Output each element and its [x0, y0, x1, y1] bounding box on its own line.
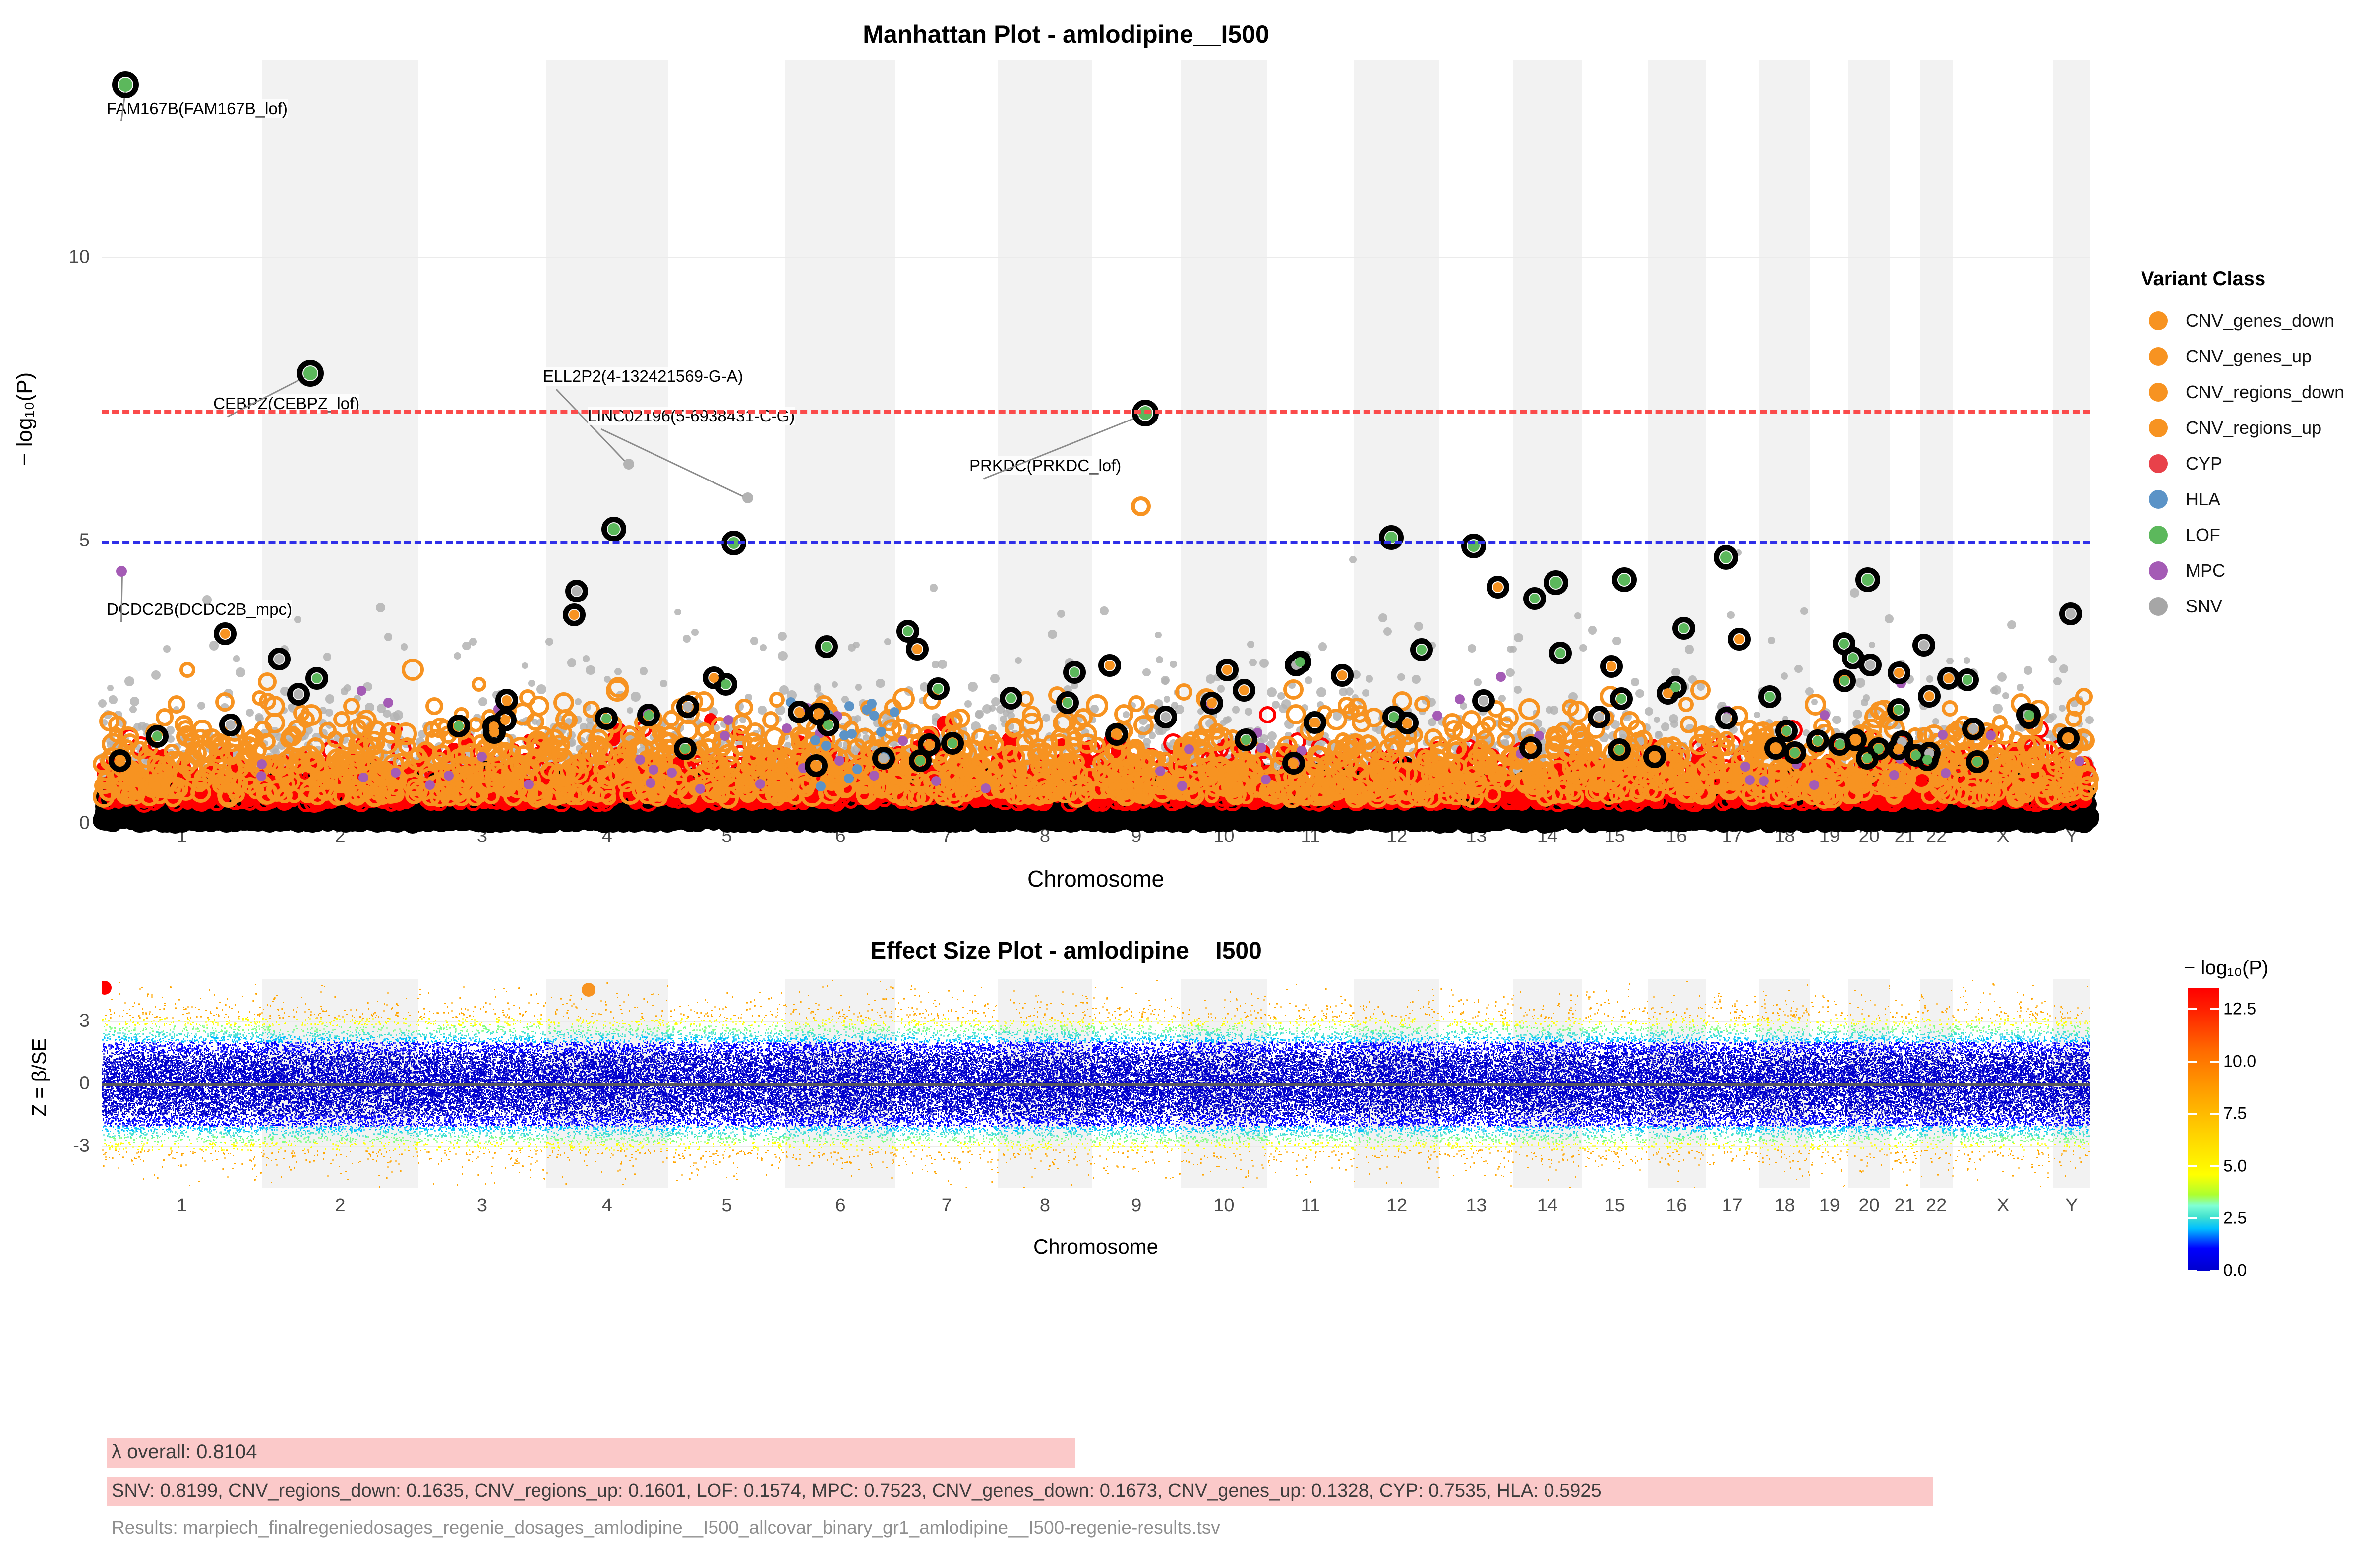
- data-point: [1316, 687, 1326, 697]
- data-point: [631, 692, 640, 701]
- data-point: [401, 643, 408, 651]
- data-point: [1057, 610, 1065, 618]
- manhattan-y-tick: 10: [15, 247, 90, 268]
- data-point: [876, 679, 885, 688]
- data-point: [109, 695, 118, 704]
- data-point: [1474, 678, 1482, 686]
- data-point: [246, 709, 254, 717]
- data-point: [1305, 676, 1313, 685]
- data-point: [1685, 645, 1694, 654]
- data-point: [1267, 731, 1277, 741]
- data-point: [1579, 644, 1587, 652]
- data-point: [575, 698, 582, 705]
- chromosome-band: [1759, 60, 1811, 823]
- data-point: [129, 706, 137, 713]
- manhattan-panel: Manhattan Plot - amlodipine__I500 − log₁…: [0, 0, 2132, 893]
- data-point: [975, 711, 983, 719]
- data-point: [1366, 675, 1373, 683]
- data-point: [1217, 685, 1225, 693]
- data-point: [1378, 613, 1387, 622]
- data-point: [528, 680, 535, 687]
- data-point: [750, 637, 759, 645]
- data-point: [98, 699, 107, 708]
- data-point: [855, 684, 862, 690]
- data-point: [1170, 661, 1177, 668]
- data-point: [930, 584, 938, 592]
- data-point: [124, 676, 134, 686]
- data-point: [233, 655, 240, 662]
- data-point: [990, 674, 1000, 683]
- data-point: [1155, 632, 1161, 638]
- data-point: [462, 642, 471, 651]
- chromosome-band: [1648, 60, 1706, 823]
- data-point: [1645, 707, 1653, 716]
- chromosome-band: [1181, 60, 1267, 823]
- data-point: [760, 644, 767, 651]
- data-point: [567, 658, 576, 667]
- data-point: [1412, 675, 1421, 684]
- data-point: [1514, 633, 1523, 642]
- data-point: [478, 697, 488, 707]
- data-point: [130, 697, 139, 706]
- data-point: [1468, 644, 1476, 653]
- data-point: [1345, 687, 1354, 696]
- data-point: [1414, 622, 1423, 631]
- data-point: [1161, 676, 1170, 685]
- data-point: [1514, 686, 1522, 694]
- manhattan-gridline: [102, 257, 2090, 258]
- data-point: [1156, 656, 1163, 663]
- data-point: [674, 609, 681, 616]
- data-point: [383, 710, 391, 718]
- data-point: [323, 653, 331, 661]
- manhattan-plot-area: [102, 60, 2090, 823]
- data-point: [1550, 706, 1558, 714]
- data-point: [683, 635, 691, 643]
- data-point: [640, 667, 648, 675]
- manhattan-y-axis: − log₁₀(P) 0510: [0, 60, 102, 823]
- data-point: [536, 684, 546, 694]
- data-point: [197, 702, 205, 710]
- data-point: [1635, 689, 1644, 698]
- data-point: [1397, 673, 1405, 681]
- data-point: [1349, 556, 1357, 563]
- data-point: [236, 667, 245, 677]
- manhattan-title: Manhattan Plot - amlodipine__I500: [0, 20, 2132, 49]
- data-point: [393, 710, 403, 720]
- data-point: [1631, 678, 1639, 686]
- data-point: [1612, 637, 1621, 645]
- data-point: [964, 700, 972, 708]
- data-point: [1259, 659, 1269, 668]
- data-point: [1318, 642, 1327, 651]
- manhattan-y-tick: 0: [15, 813, 90, 834]
- data-point: [1048, 630, 1057, 639]
- data-point: [691, 629, 698, 636]
- data-point: [1164, 696, 1171, 703]
- manhattan-y-tick: 5: [15, 530, 90, 551]
- data-point: [107, 685, 114, 691]
- data-point: [325, 694, 335, 704]
- data-point: [814, 685, 822, 693]
- data-point: [1671, 668, 1680, 676]
- data-point: [778, 632, 787, 641]
- data-point: [853, 642, 860, 649]
- figure-page: Manhattan Plot - amlodipine__I500 − log₁…: [0, 0, 2380, 1562]
- data-point: [1142, 668, 1151, 677]
- data-point: [1249, 659, 1257, 666]
- data-point: [1362, 689, 1369, 697]
- data-point: [1042, 714, 1050, 721]
- data-point: [294, 616, 301, 623]
- data-point: [454, 652, 461, 660]
- data-point: [1588, 626, 1597, 635]
- data-point: [325, 709, 333, 717]
- data-point: [932, 661, 939, 668]
- data-point: [202, 595, 212, 604]
- data-point: [522, 662, 528, 669]
- data-point: [1100, 606, 1109, 615]
- data-point: [1506, 668, 1514, 677]
- data-point: [1015, 657, 1022, 664]
- data-point: [1383, 627, 1392, 636]
- data-point: [778, 651, 788, 661]
- data-point: [968, 682, 978, 692]
- data-point: [151, 670, 161, 680]
- data-point: [163, 645, 171, 653]
- data-point: [1247, 641, 1254, 648]
- data-point: [1574, 612, 1581, 619]
- data-point: [1267, 687, 1277, 697]
